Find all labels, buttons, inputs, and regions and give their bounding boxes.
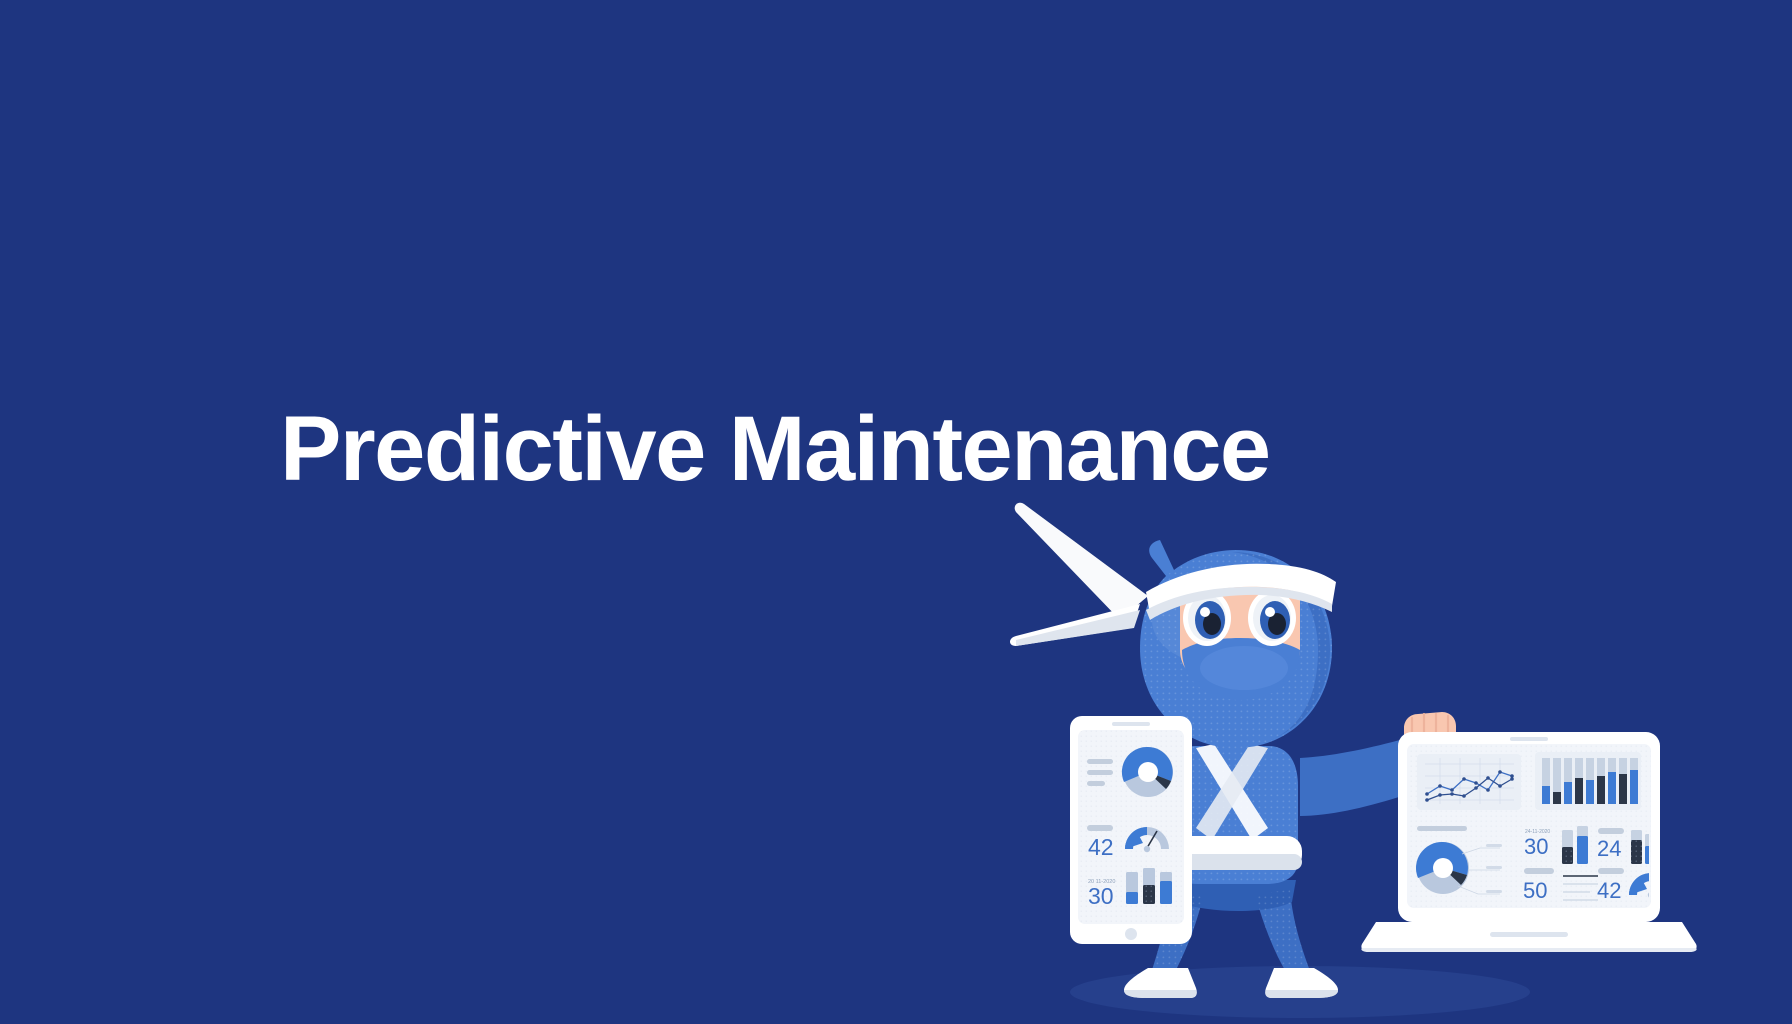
laptop-stat-30: 30 — [1524, 834, 1548, 859]
laptop-stat-24: 24 — [1597, 836, 1621, 861]
slide-canvas: Predictive Maintenance — [0, 0, 1792, 1024]
ninja-illustration: 42 20 11-2020 30 — [1000, 500, 1792, 1024]
laptop-stat-50: 50 — [1523, 878, 1547, 903]
page-title: Predictive Maintenance — [280, 399, 1380, 499]
laptop-bar-chart — [1535, 752, 1641, 810]
laptop-device[interactable]: 24-11-2020 30 24 — [1361, 732, 1696, 952]
tablet-stat-30: 30 — [1088, 883, 1114, 909]
ninja-head — [1010, 503, 1336, 748]
laptop-stat-42: 42 — [1597, 878, 1621, 903]
laptop-line-chart — [1417, 754, 1521, 810]
tablet-device[interactable]: 42 20 11-2020 30 — [1070, 716, 1192, 944]
tablet-stat-42: 42 — [1088, 834, 1114, 860]
tablet-bar-chart — [1126, 868, 1172, 904]
